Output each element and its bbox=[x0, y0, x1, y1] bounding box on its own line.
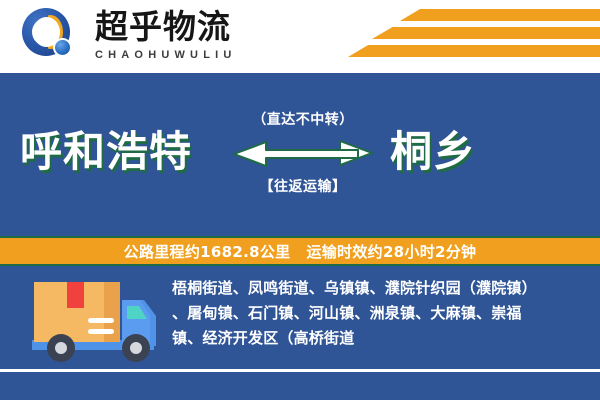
coverage-line-1: 梧桐街道、凤鸣街道、乌镇镇、濮院针织园（濮院镇） bbox=[172, 276, 590, 301]
info-bar-content: 公路里程约1682.8公里运输时效约28小时2分钟 bbox=[124, 241, 477, 262]
decorative-stripes bbox=[350, 9, 600, 65]
circle-crescent-logo-icon bbox=[22, 8, 80, 66]
route-section: 呼和浩特 （直达不中转） 【往返运输】 桐乡 bbox=[0, 73, 600, 236]
brand-name-en: CHAOHUWULIU bbox=[95, 48, 237, 62]
coverage-area-list: 梧桐街道、凤鸣街道、乌镇镇、濮院针织园（濮院镇） 、屠甸镇、石门镇、河山镇、洲泉… bbox=[172, 276, 590, 351]
stripe-3 bbox=[348, 45, 600, 57]
coverage-line-2: 、屠甸镇、石门镇、河山镇、洲泉镇、大麻镇、崇福 bbox=[172, 301, 590, 326]
logo-accent-dot bbox=[53, 38, 72, 57]
banner-header: 超乎物流 CHAOHUWULIU bbox=[0, 0, 600, 73]
coverage-section: 梧桐街道、凤鸣街道、乌镇镇、濮院针织园（濮院镇） 、屠甸镇、石门镇、河山镇、洲泉… bbox=[0, 266, 600, 400]
logistics-route-banner: 超乎物流 CHAOHUWULIU 呼和浩特 （直达不中转） 【往返运输】 bbox=[0, 0, 600, 400]
direct-route-note: （直达不中转） bbox=[228, 111, 378, 129]
stripe-1 bbox=[400, 9, 600, 21]
bidirectional-arrow-icon bbox=[228, 133, 378, 173]
route-middle: （直达不中转） 【往返运输】 bbox=[228, 111, 378, 196]
destination-city: 桐乡 bbox=[390, 127, 476, 177]
distance-text: 公路里程约1682.8公里 bbox=[124, 243, 291, 261]
coverage-line-3: 镇、经济开发区（高桥街道 bbox=[172, 326, 590, 351]
round-trip-note: 【往返运输】 bbox=[228, 178, 378, 196]
stripe-2 bbox=[372, 27, 600, 39]
ground-line bbox=[0, 369, 600, 372]
delivery-truck-icon bbox=[26, 276, 166, 368]
route-info-bar: 公路里程约1682.8公里运输时效约28小时2分钟 bbox=[0, 236, 600, 266]
brand-name-cn: 超乎物流 bbox=[95, 8, 237, 46]
duration-text: 运输时效约28小时2分钟 bbox=[306, 243, 476, 261]
origin-city: 呼和浩特 bbox=[20, 127, 192, 177]
brand-block: 超乎物流 CHAOHUWULIU bbox=[95, 8, 237, 62]
